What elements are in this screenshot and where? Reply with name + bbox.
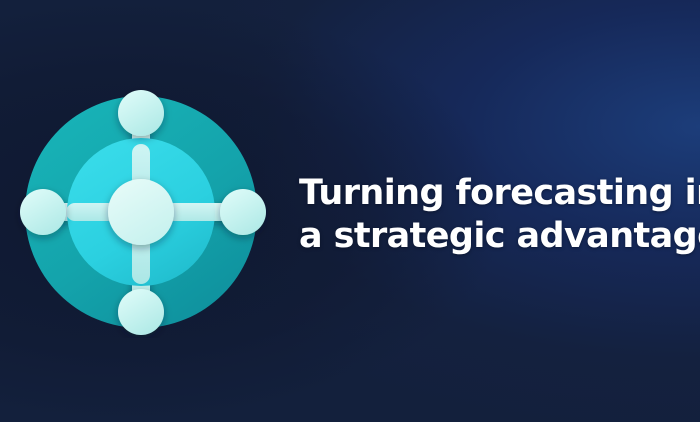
headline: Turning forecasting into a strategic adv… xyxy=(299,172,691,258)
headline-line-1: Turning forecasting into xyxy=(299,172,691,215)
hero-banner: Turning forecasting into a strategic adv… xyxy=(0,0,700,422)
network-hub-icon xyxy=(14,84,276,338)
headline-line-2: a strategic advantage xyxy=(299,215,691,258)
